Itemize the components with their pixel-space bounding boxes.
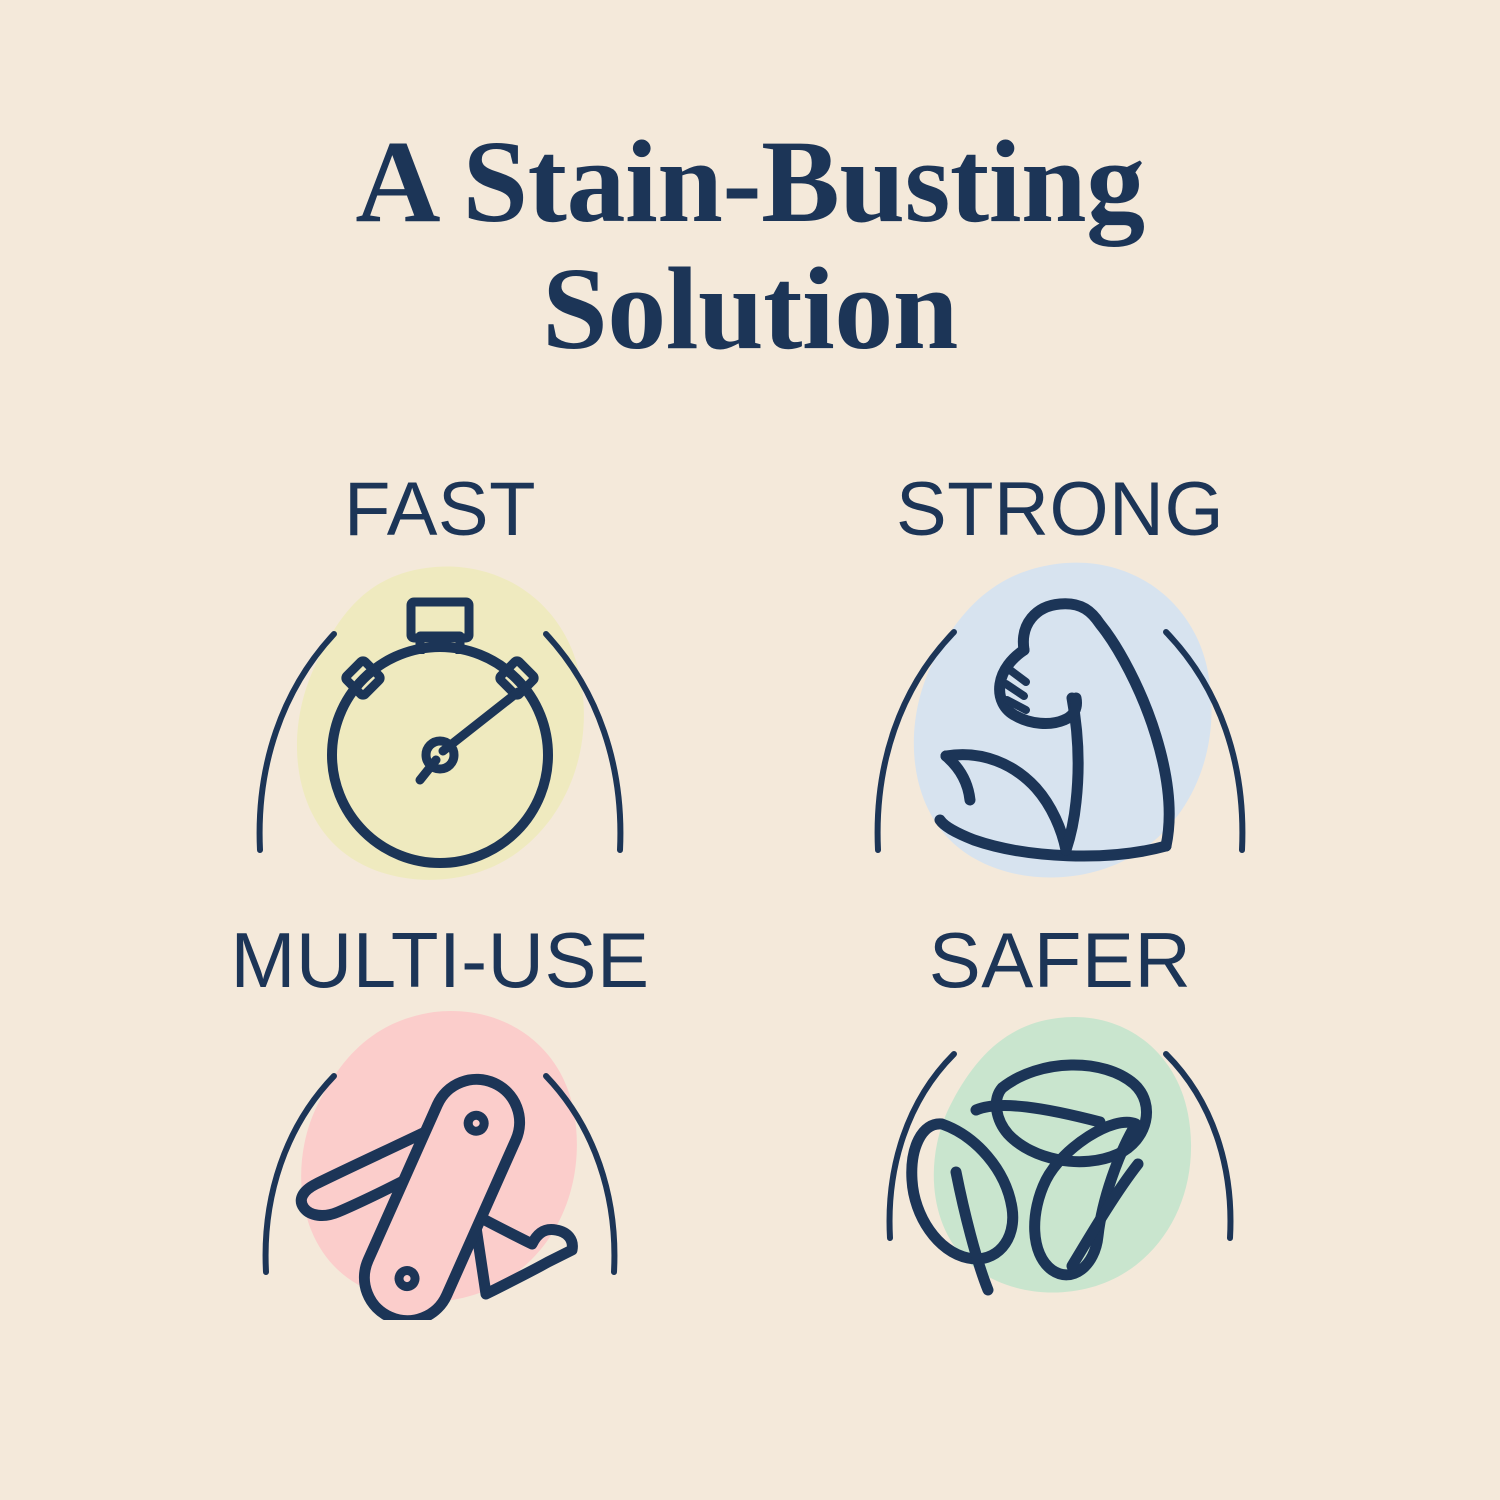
three-leaves-icon-wrap (750, 1000, 1370, 1340)
feature-label-strong: STRONG (750, 470, 1370, 550)
feature-label-safer: SAFER (750, 920, 1370, 1000)
stopwatch-icon-wrap (130, 550, 750, 890)
feature-card-fast: FAST (130, 470, 750, 905)
feature-label-fast: FAST (130, 470, 750, 550)
flexed-bicep-icon-wrap (750, 550, 1370, 890)
pocket-knife-icon-wrap (130, 1000, 750, 1340)
flexed-bicep-icon (850, 550, 1270, 890)
feature-card-safer: SAFER (750, 920, 1370, 1355)
feature-card-multi-use: MULTI-USE (130, 920, 750, 1355)
poster-canvas: A Stain-Busting Solution FAST (0, 0, 1500, 1500)
page-title-line-1: A Stain-Busting (0, 118, 1500, 245)
page-title: A Stain-Busting Solution (0, 118, 1500, 372)
stopwatch-icon (230, 550, 650, 890)
feature-grid: FAST (130, 470, 1370, 1340)
three-leaves-icon (850, 1000, 1270, 1320)
feature-card-strong: STRONG (750, 470, 1370, 905)
pocket-knife-icon (230, 1000, 650, 1320)
page-title-line-2: Solution (0, 245, 1500, 372)
feature-label-multi-use: MULTI-USE (130, 920, 750, 1000)
